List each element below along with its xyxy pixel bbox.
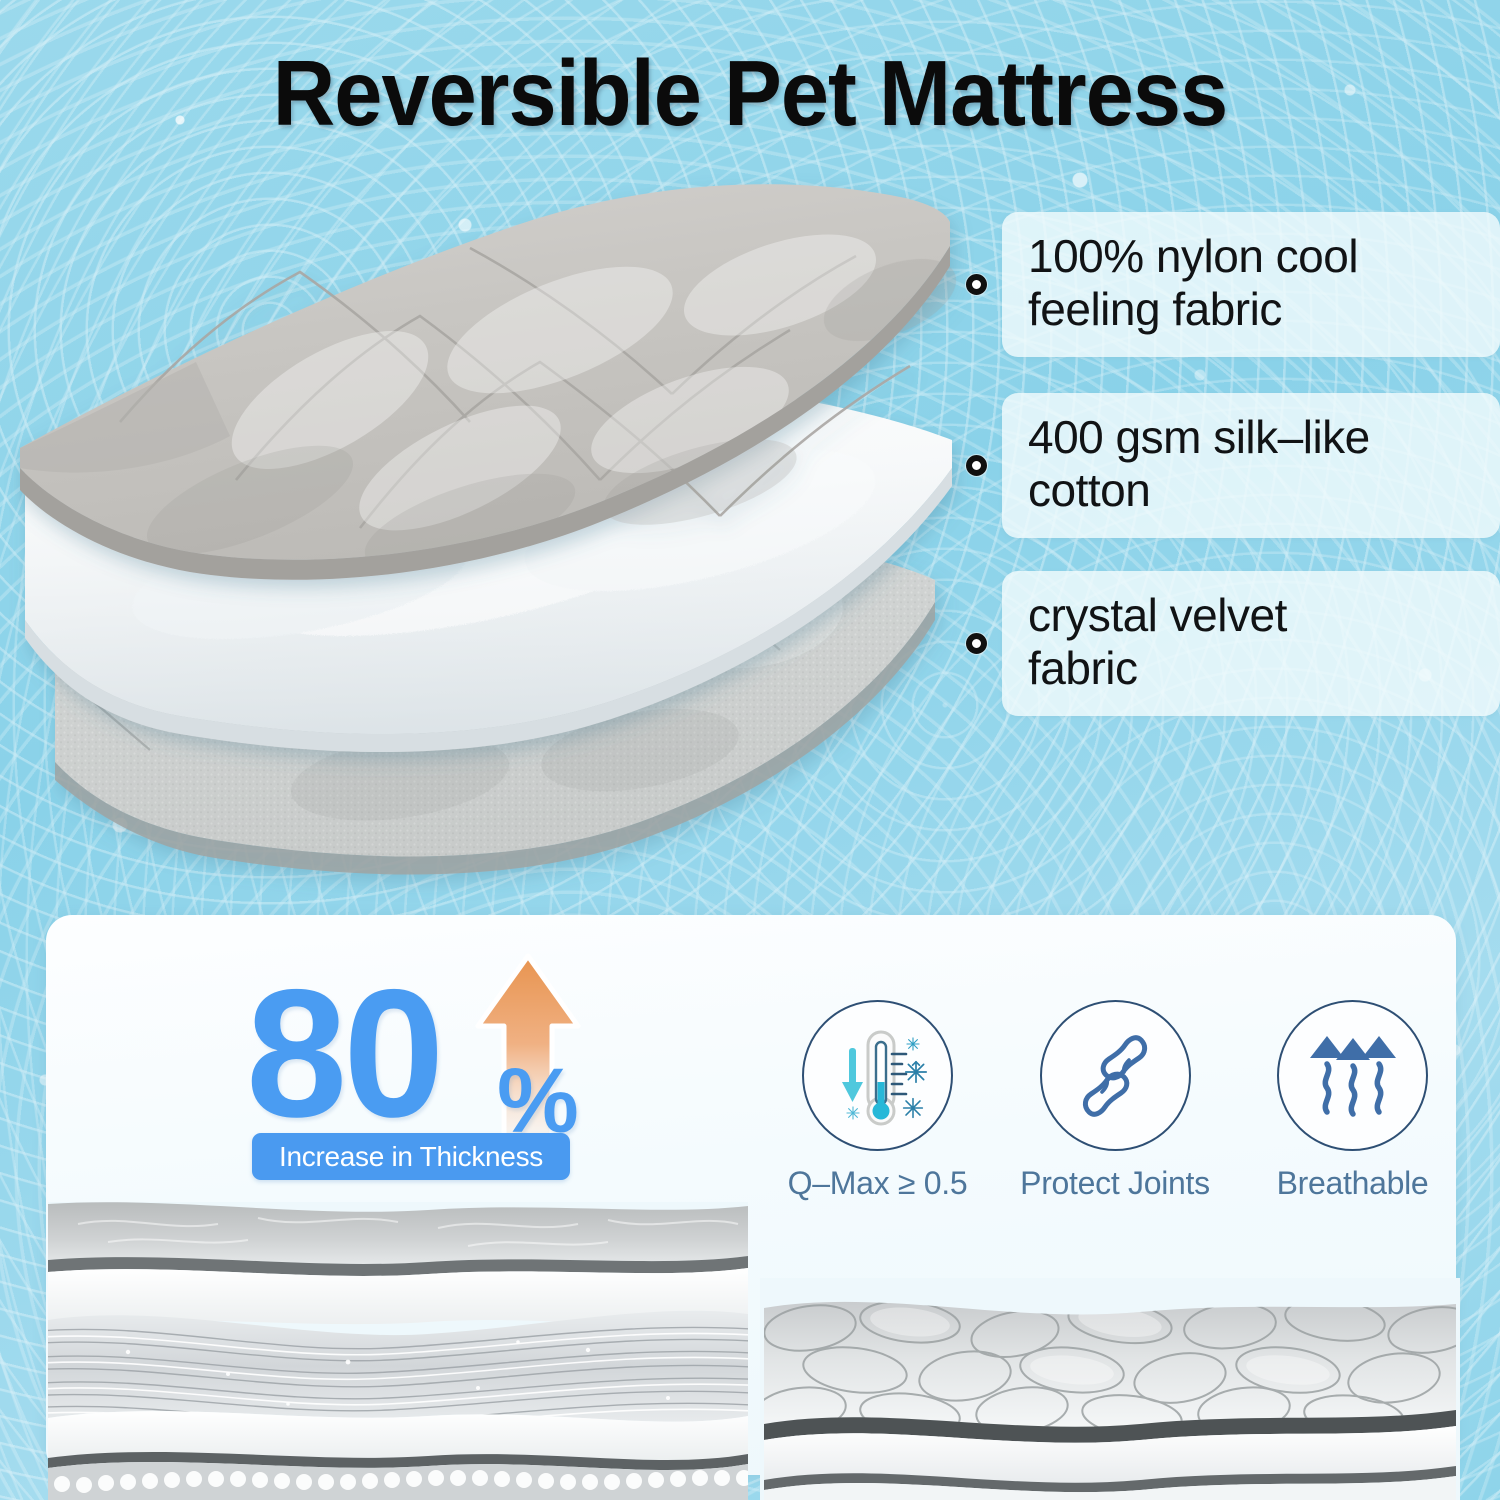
feature-icon-row: Q–Max ≥ 0.5 Protect Joints [770, 1000, 1460, 1200]
callout-line-1: 400 gsm silk–like [1028, 411, 1474, 464]
fiber-cross-section-photo [48, 1202, 748, 1500]
bone-joint-icon [1040, 1000, 1191, 1151]
ring-bullet-icon [966, 274, 987, 295]
callout-cotton: 400 gsm silk–like cotton [966, 393, 1500, 538]
ring-bullet-icon [966, 455, 987, 476]
feature-qmax: Q–Max ≥ 0.5 [770, 1000, 985, 1202]
feature-protect-joints: Protect Joints [1008, 1000, 1223, 1202]
feature-label: Breathable [1277, 1165, 1429, 1202]
mattress-layers-illustration [0, 150, 980, 910]
thermometer-snowflake-icon [802, 1000, 953, 1151]
callout-box: 400 gsm silk–like cotton [1002, 393, 1500, 538]
increase-in-thickness-badge: Increase in Thickness [252, 1133, 570, 1180]
callout-line-1: crystal velvet [1028, 589, 1474, 642]
callout-line-2: fabric [1028, 642, 1474, 695]
callout-line-2: feeling fabric [1028, 283, 1474, 336]
feature-label: Q–Max ≥ 0.5 [788, 1165, 968, 1202]
quilted-pebble-edge-photo [760, 1278, 1460, 1500]
feature-label: Protect Joints [1020, 1165, 1210, 1202]
callout-nylon: 100% nylon cool feeling fabric [966, 212, 1500, 357]
page-title: Reversible Pet Mattress [53, 40, 1448, 147]
callout-box: 100% nylon cool feeling fabric [1002, 212, 1500, 357]
badge-label: Increase in Thickness [279, 1141, 543, 1173]
ring-bullet-icon [966, 633, 987, 654]
callout-line-2: cotton [1028, 464, 1474, 517]
stat-number: 80 [246, 962, 440, 1144]
callout-velvet: crystal velvet fabric [966, 571, 1500, 716]
callout-line-1: 100% nylon cool [1028, 230, 1474, 283]
feature-breathable: Breathable [1245, 1000, 1460, 1202]
breathable-arrows-icon [1277, 1000, 1428, 1151]
callout-box: crystal velvet fabric [1002, 571, 1500, 716]
